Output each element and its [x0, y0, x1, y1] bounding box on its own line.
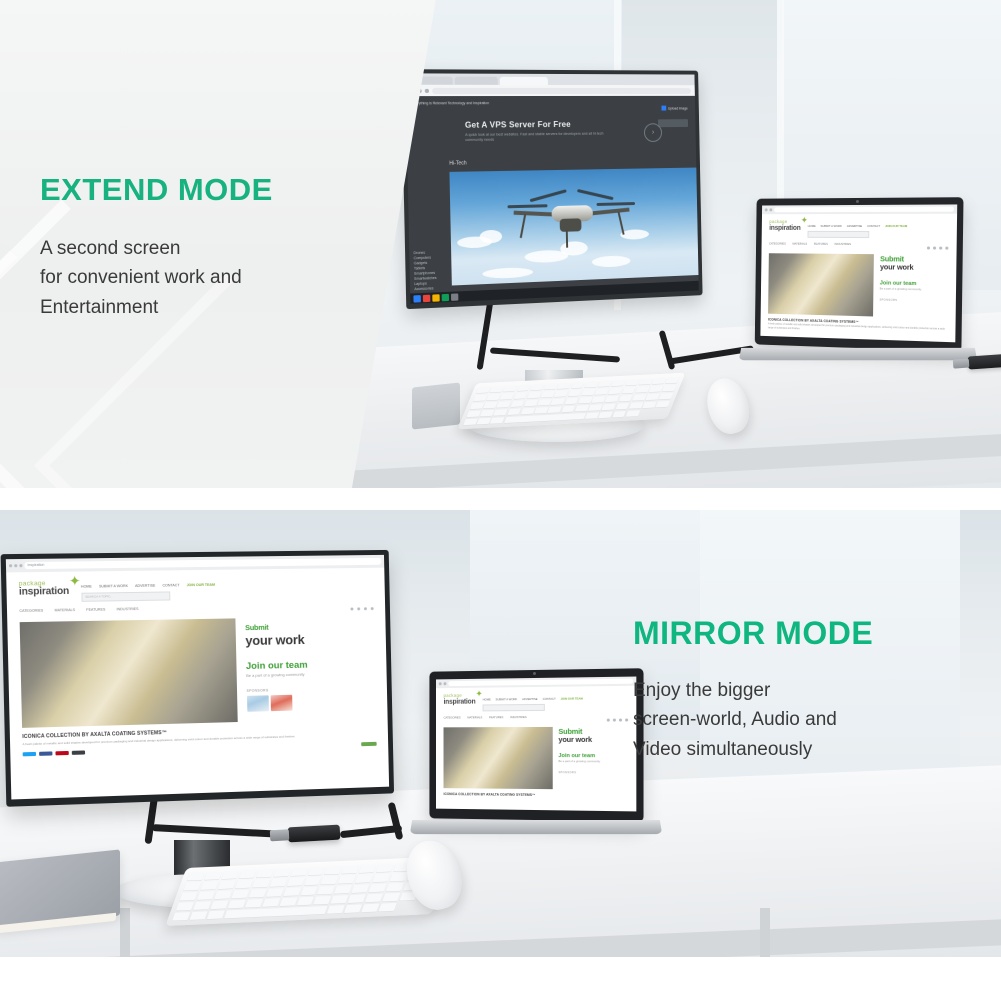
nav-item-advertise[interactable]: ADVERTISE: [135, 584, 156, 588]
search-placeholder: SEARCH A TOPIC...: [82, 592, 169, 600]
sponsor-logos[interactable]: [247, 689, 376, 711]
subnav-materials[interactable]: MATERIALS: [467, 715, 482, 719]
nav-item-home[interactable]: HOME: [81, 584, 92, 588]
taskbar-icon[interactable]: [432, 294, 439, 302]
taskbar-icon[interactable]: [423, 294, 430, 302]
nav-item-submit[interactable]: SUBMIT A WORK: [820, 224, 841, 228]
sponsor-logo[interactable]: [270, 694, 292, 710]
twitter-icon[interactable]: [357, 607, 360, 610]
back-icon[interactable]: [9, 564, 12, 567]
tweet-button[interactable]: [23, 751, 36, 755]
pinterest-icon[interactable]: [619, 719, 622, 722]
drone-hero-image: [449, 168, 698, 286]
product-marketing-image: www.packageinspiration.com/hi-tech/vps-f…: [0, 0, 1001, 1001]
upload-label: Upload Image: [668, 106, 688, 110]
url-field[interactable]: [448, 679, 633, 687]
submit-work-cta[interactable]: Submit your work: [558, 727, 628, 744]
back-icon[interactable]: [439, 682, 442, 685]
mirror-mode-panel: inspiration package inspiration ✦: [0, 510, 1001, 957]
mirror-title: MIRROR MODE: [633, 615, 963, 652]
cta-yourwork-label: your work: [880, 264, 948, 272]
mirror-subtitle: Enjoy the bigger screen-world, Audio and…: [633, 676, 963, 764]
forward-icon[interactable]: [14, 564, 17, 567]
nav-item-contact[interactable]: CONTACT: [867, 224, 880, 228]
read-more-button[interactable]: [361, 741, 376, 745]
laptop-lid: package inspiration ✦ HOME SUBMIT A WORK…: [755, 197, 964, 352]
pin-button[interactable]: [55, 750, 68, 754]
laptop: package inspiration ✦ HOME SUBMIT A WORK…: [750, 198, 962, 348]
article-hero-image: [444, 727, 553, 789]
drone-rotor: [577, 189, 614, 200]
drone-arm: [514, 211, 556, 217]
drone-camera: [560, 218, 582, 232]
hero-text: Get A VPS Server For Free A quick look a…: [465, 120, 615, 144]
subnav-materials[interactable]: MATERIALS: [792, 242, 807, 246]
desk-leg: [760, 908, 770, 957]
taskbar-icon[interactable]: [442, 293, 449, 300]
instagram-icon[interactable]: [945, 247, 948, 250]
submit-work-cta[interactable]: Submit your work: [880, 254, 948, 272]
cta-yourwork-label: your work: [558, 736, 628, 744]
content-row: Submit your work Join our team Be a part…: [436, 721, 636, 789]
site-logo[interactable]: package inspiration: [19, 581, 69, 598]
monitor-screen: www.packageinspiration.com/hi-tech/vps-f…: [405, 73, 698, 303]
back-icon[interactable]: [765, 208, 768, 211]
pinterest-icon[interactable]: [364, 607, 367, 610]
sponsor-logo[interactable]: [247, 695, 269, 711]
search-input[interactable]: SEARCH A TOPIC...: [81, 591, 170, 601]
section-heading: Hi-Tech: [449, 160, 467, 166]
sponsors-label: SPONSORS: [880, 298, 948, 303]
subnav-materials[interactable]: MATERIALS: [55, 608, 76, 612]
drone-leg: [617, 211, 624, 234]
adapter-connector: [953, 359, 970, 369]
play-arrow-icon[interactable]: ›: [644, 123, 662, 142]
reload-icon[interactable]: [19, 564, 22, 567]
mouse-pad: [412, 382, 460, 429]
extend-mode-panel: www.packageinspiration.com/hi-tech/vps-f…: [0, 0, 1001, 488]
main-nav[interactable]: HOME SUBMIT A WORK ADVERTISE CONTACT JOI…: [81, 577, 373, 589]
page-body: Everything is Relevant Technology and In…: [406, 96, 699, 304]
extend-title: EXTEND MODE: [40, 172, 370, 208]
monitor-bezel: inspiration package inspiration ✦: [1, 550, 394, 807]
subnav-categories[interactable]: CATEGORIES: [444, 715, 461, 719]
browser-tab-bar[interactable]: [405, 73, 694, 85]
twitter-icon[interactable]: [613, 719, 616, 722]
site-header: package inspiration ✦ HOME SUBMIT A WORK…: [762, 214, 957, 239]
browser-address-bar[interactable]: www.packageinspiration.com/hi-tech/vps-f…: [406, 85, 695, 96]
main-nav[interactable]: HOME SUBMIT A WORK ADVERTISE CONTACT JOI…: [483, 692, 628, 702]
webcam-icon: [855, 200, 858, 203]
nav-item-join[interactable]: JOIN OUR TEAM: [561, 696, 583, 700]
site-logo: Everything is Relevant Technology and In…: [411, 101, 489, 106]
url-field[interactable]: [774, 207, 954, 213]
bottom-margin: [0, 957, 1001, 1001]
drone-leg: [566, 230, 568, 248]
taskbar-icon[interactable]: [451, 293, 458, 300]
cta-yourwork-label: your work: [245, 632, 374, 647]
upload-icon: [661, 106, 666, 111]
site-header: package inspiration ✦ HOME SUBMIT A WORK…: [436, 686, 636, 712]
article-hero-image: [20, 618, 238, 728]
package-inspiration-site: package inspiration ✦ HOME SUBMIT A WORK…: [760, 204, 957, 342]
header-button[interactable]: [658, 119, 688, 127]
external-monitor: www.packageinspiration.com/hi-tech/vps-f…: [407, 70, 707, 302]
package-inspiration-site: inspiration package inspiration ✦: [6, 555, 389, 800]
subnav-industries[interactable]: INDUSTRIES: [510, 715, 527, 719]
nav-item-join[interactable]: JOIN OUR TEAM: [885, 224, 907, 228]
subnav-features[interactable]: FEATURES: [489, 715, 503, 719]
browser-tab-active[interactable]: [500, 77, 548, 85]
laptop-screen: package inspiration ✦ HOME SUBMIT A WORK…: [436, 677, 636, 812]
extend-text-block: EXTEND MODE A second screen for convenie…: [40, 172, 370, 322]
instagram-icon[interactable]: [371, 607, 374, 610]
upload-image-badge[interactable]: Upload Image: [661, 106, 687, 111]
desk-leg: [120, 908, 130, 957]
drone-illustration: [507, 184, 636, 257]
share-button[interactable]: [72, 750, 85, 754]
laptop-lid: package inspiration ✦ HOME SUBMIT A WORK…: [429, 668, 643, 822]
monitor-bezel: www.packageinspiration.com/hi-tech/vps-f…: [401, 69, 702, 309]
instagram-icon[interactable]: [625, 718, 628, 721]
nav-item-contact[interactable]: CONTACT: [543, 697, 556, 701]
subnav-industries[interactable]: INDUSTRIES: [835, 242, 851, 246]
taskbar-icon[interactable]: [413, 295, 421, 303]
nav-item-contact[interactable]: CONTACT: [162, 583, 179, 587]
nav-item-home[interactable]: HOME: [808, 224, 816, 228]
sponsors-label: SPONSORS: [558, 771, 628, 774]
fabric-notebook: [0, 849, 120, 928]
pinterest-icon[interactable]: [939, 247, 942, 250]
extend-subtitle: A second screen for convenient work and …: [40, 234, 370, 322]
laptop: package inspiration ✦ HOME SUBMIT A WORK…: [425, 670, 643, 820]
url-field[interactable]: www.packageinspiration.com/hi-tech/vps-f…: [432, 87, 691, 93]
article-hero-image: [768, 253, 874, 316]
site-logo[interactable]: package inspiration: [444, 694, 476, 706]
reload-icon[interactable]: [425, 88, 429, 92]
laptop-base: [739, 348, 977, 360]
subnav-categories[interactable]: CATEGORIES: [769, 242, 786, 246]
monitor-screen: inspiration package inspiration ✦: [6, 555, 389, 800]
drone-arm: [589, 208, 630, 216]
join-team-sub: Be a part of a growing community: [880, 287, 948, 292]
package-inspiration-site: package inspiration ✦ HOME SUBMIT A WORK…: [436, 677, 636, 812]
site-header: package inspiration ✦ HOME SUBMIT A WORK…: [6, 568, 385, 603]
browser-tab[interactable]: [455, 77, 498, 85]
adapter-connector: [270, 829, 290, 841]
mirror-text-block: MIRROR MODE Enjoy the bigger screen-worl…: [633, 615, 963, 764]
sidebar-menu[interactable]: DronesComputersGadgetsTabletsSmartphones…: [414, 250, 437, 292]
panel-divider: [0, 488, 1001, 510]
nav-item-advertise[interactable]: ADVERTISE: [847, 224, 862, 228]
hero-subtext: A quick look at our best websites. Fast …: [465, 131, 614, 143]
subnav-industries[interactable]: INDUSTRIES: [117, 607, 139, 611]
nav-item-home[interactable]: HOME: [483, 697, 491, 701]
logo-bottom-text: inspiration: [769, 225, 800, 232]
content-row: Submit your work Join our team Be a part…: [7, 610, 387, 728]
usb-display-adapter: [288, 825, 341, 843]
like-button[interactable]: [39, 751, 52, 755]
subnav-features[interactable]: FEATURES: [814, 242, 828, 246]
nav-item-submit[interactable]: SUBMIT A WORK: [496, 697, 518, 701]
drone-rotor: [530, 189, 567, 202]
logo-bottom-text: inspiration: [19, 587, 69, 598]
content-row: Submit your work Join our team Be a part…: [761, 248, 957, 318]
subnav-categories[interactable]: CATEGORIES: [19, 609, 43, 613]
main-nav[interactable]: HOME SUBMIT A WORK ADVERTISE CONTACT JOI…: [808, 220, 949, 228]
site-logo[interactable]: package inspiration: [769, 220, 801, 231]
usb-display-adapter: [968, 353, 1001, 369]
extend-mode-photo: www.packageinspiration.com/hi-tech/vps-f…: [352, 0, 1001, 488]
cta-column: Submit your work Join our team Be a part…: [245, 616, 376, 722]
external-monitor: inspiration package inspiration ✦: [6, 552, 396, 800]
nav-item-submit[interactable]: SUBMIT A WORK: [99, 584, 128, 588]
join-team-sub: Be a part of a growing community: [558, 760, 628, 764]
cta-column: Submit your work Join our team Be a part…: [558, 727, 628, 790]
facebook-icon[interactable]: [607, 719, 610, 722]
webcam-icon: [533, 672, 536, 675]
search-input[interactable]: [483, 704, 545, 711]
submit-work-cta[interactable]: Submit your work: [245, 616, 375, 647]
facebook-icon[interactable]: [350, 607, 353, 610]
laptop-screen: package inspiration ✦ HOME SUBMIT A WORK…: [760, 204, 957, 342]
hero-heading: Get A VPS Server For Free: [465, 120, 614, 130]
logo-bottom-text: inspiration: [444, 698, 476, 705]
drone-leg: [520, 214, 526, 238]
twitter-icon[interactable]: [933, 247, 936, 250]
browser-chrome[interactable]: [762, 204, 957, 214]
nav-item-advertise[interactable]: ADVERTISE: [522, 697, 537, 701]
forward-icon[interactable]: [444, 682, 447, 685]
forward-icon[interactable]: [769, 208, 772, 211]
search-input[interactable]: [808, 231, 870, 238]
cta-column: Submit your work Join our team Be a part…: [879, 254, 948, 318]
nav-item-join[interactable]: JOIN OUR TEAM: [187, 583, 215, 587]
subnav-features[interactable]: FEATURES: [86, 608, 105, 612]
drone-rotor: [507, 204, 547, 208]
drone-rotor: [596, 202, 635, 206]
cta-submit-label: Submit: [245, 623, 269, 632]
facebook-icon[interactable]: [927, 246, 930, 249]
laptop-base: [410, 820, 662, 834]
